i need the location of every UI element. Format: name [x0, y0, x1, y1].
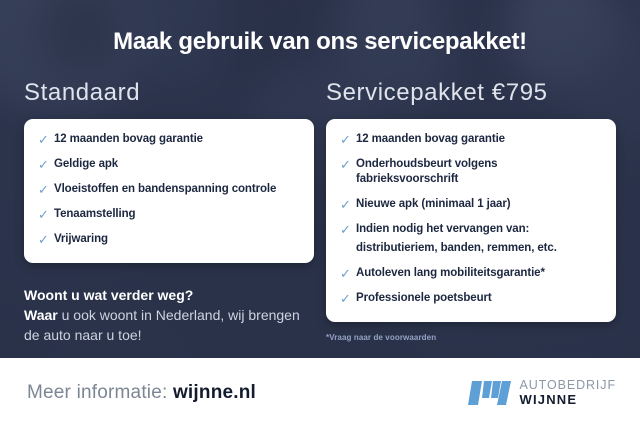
list-item: ✓ Geldige apk	[38, 157, 300, 172]
brand-logo-line2: WIJNNE	[520, 393, 617, 406]
standard-column-title: Standaard	[24, 80, 314, 106]
list-item: ✓ 12 maanden bovag garantie	[340, 132, 602, 147]
check-icon: ✓	[38, 182, 51, 197]
servicepakket-column: Servicepakket €795 ✓ 12 maanden bovag ga…	[326, 80, 616, 342]
brand-logo-text: AUTOBEDRIJF WIJNNE	[520, 379, 617, 407]
check-icon: ✓	[38, 207, 51, 222]
list-item-label: Geldige apk	[54, 157, 118, 172]
list-item-continuation: distributieriem, banden, remmen, etc.	[356, 241, 602, 256]
check-icon: ✓	[340, 157, 353, 172]
list-item: ✓ Vrijwaring	[38, 232, 300, 247]
list-item: ✓ 12 maanden bovag garantie	[38, 132, 300, 147]
check-icon: ✓	[38, 157, 51, 172]
list-item-label: 12 maanden bovag garantie	[356, 132, 505, 147]
page-title: Maak gebruik van ons servicepakket!	[0, 28, 640, 56]
list-item-label: 12 maanden bovag garantie	[54, 132, 203, 147]
list-item: ✓ Autoleven lang mobiliteitsgarantie*	[340, 266, 602, 281]
list-item-label: Tenaamstelling	[54, 207, 135, 222]
list-item-label: Nieuwe apk (minimaal 1 jaar)	[356, 197, 510, 212]
list-item: ✓ Vloeistoffen en bandenspanning control…	[38, 182, 300, 197]
more-info-label: Meer informatie:	[27, 382, 167, 403]
check-icon: ✓	[340, 222, 353, 237]
check-icon: ✓	[38, 132, 51, 147]
check-icon: ✓	[340, 132, 353, 147]
more-info-text: Meer informatie: wijnne.nl	[27, 382, 256, 404]
terms-footnote: *Vraag naar de voorwaarden	[326, 333, 616, 342]
servicepakket-column-title: Servicepakket €795	[326, 80, 616, 106]
brand-logo-line1: AUTOBEDRIJF	[520, 379, 617, 392]
list-item-label: Professionele poetsbeurt	[356, 291, 492, 306]
delivery-note-heading: Woont u wat verder weg?	[24, 287, 193, 303]
list-item: ✓ Indien nodig het vervangen van:	[340, 222, 602, 237]
list-item-label: Onderhoudsbeurt volgens fabrieksvoorschr…	[356, 157, 602, 187]
delivery-note-emphasis: Waar	[24, 307, 58, 323]
website-link[interactable]: wijnne.nl	[173, 382, 256, 403]
brand-logo[interactable]: AUTOBEDRIJF WIJNNE	[467, 379, 617, 407]
check-icon: ✓	[340, 197, 353, 212]
check-icon: ✓	[38, 232, 51, 247]
servicepakket-features-card: ✓ 12 maanden bovag garantie ✓ Onderhouds…	[326, 119, 616, 322]
list-item: ✓ Nieuwe apk (minimaal 1 jaar)	[340, 197, 602, 212]
wijnne-w-logo-icon	[467, 381, 511, 405]
footer-bar: Meer informatie: wijnne.nl AUTOBEDRIJF W…	[0, 358, 640, 427]
list-item-label: Vrijwaring	[54, 232, 108, 247]
list-item-label: Vloeistoffen en bandenspanning controle	[54, 182, 276, 197]
list-item-label: Autoleven lang mobiliteitsgarantie*	[356, 266, 545, 281]
list-item: ✓ Onderhoudsbeurt volgens fabrieksvoorsc…	[340, 157, 602, 187]
standard-features-card: ✓ 12 maanden bovag garantie ✓ Geldige ap…	[24, 119, 314, 263]
delivery-note-body: u ook woont in Nederland, wij brengen de…	[24, 307, 300, 343]
list-item: ✓ Professionele poetsbeurt	[340, 291, 602, 306]
delivery-note: Woont u wat verder weg? Waar u ook woont…	[24, 285, 314, 345]
standard-column: Standaard ✓ 12 maanden bovag garantie ✓ …	[24, 80, 314, 345]
check-icon: ✓	[340, 291, 353, 306]
check-icon: ✓	[340, 266, 353, 281]
list-item: ✓ Tenaamstelling	[38, 207, 300, 222]
service-package-promo-banner: Maak gebruik van ons servicepakket! Stan…	[0, 0, 640, 427]
list-item-label: Indien nodig het vervangen van:	[356, 222, 529, 237]
